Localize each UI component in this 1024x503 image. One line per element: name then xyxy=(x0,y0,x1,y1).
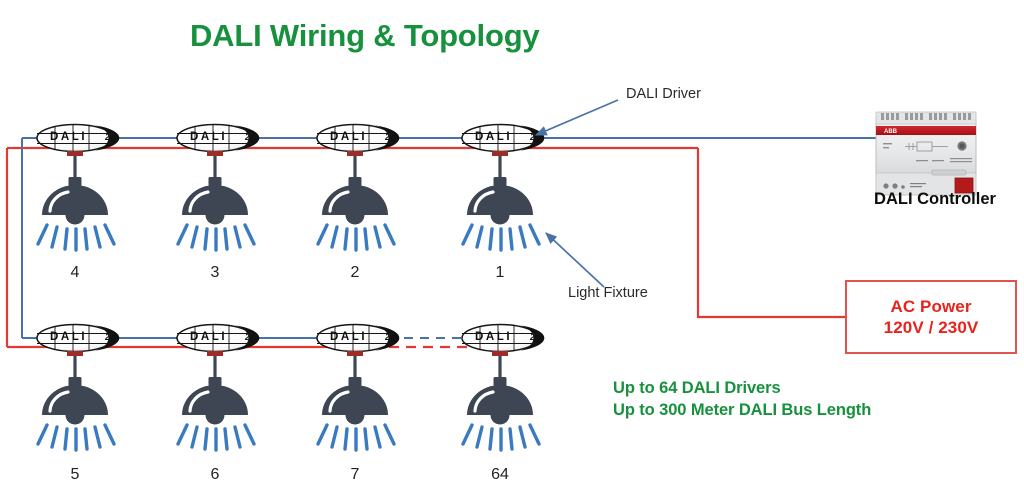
light-fixture-1[interactable] xyxy=(463,141,539,250)
fixture-number-7: 7 xyxy=(335,466,375,484)
dali-driver-6-version: 2 xyxy=(245,332,250,342)
dali-driver-2-version: 2 xyxy=(385,132,390,142)
fixture-number-5: 5 xyxy=(55,466,95,484)
dali-bus-wiring xyxy=(22,138,880,338)
dali-driver-4-version: 2 xyxy=(105,132,110,142)
light-fixture-7[interactable] xyxy=(318,341,394,450)
fixture-group-bottom xyxy=(38,341,539,450)
dali-driver-5-version: 2 xyxy=(105,332,110,342)
light-fixture-4[interactable] xyxy=(38,141,114,250)
ac-wiring xyxy=(7,148,930,347)
light-fixture-6[interactable] xyxy=(178,341,254,450)
dali-driver-annotation-label: DALI Driver xyxy=(626,86,701,102)
dali-controller-caption: DALI Controller xyxy=(855,190,1015,209)
light-fixture-64[interactable] xyxy=(463,341,539,450)
ac-power-voltage: 120V / 230V xyxy=(884,318,979,338)
fixture-number-1: 1 xyxy=(480,264,520,282)
light-fixture-5[interactable] xyxy=(38,341,114,450)
dali-driver-1-version: 2 xyxy=(530,132,535,142)
fixture-number-2: 2 xyxy=(335,264,375,282)
capacity-notes: Up to 64 DALI Drivers Up to 300 Meter DA… xyxy=(613,379,871,420)
page-title: DALI Wiring & Topology xyxy=(190,18,539,54)
fixture-number-4: 4 xyxy=(55,264,95,282)
ac-power-title: AC Power xyxy=(890,297,971,317)
fixture-number-64: 64 xyxy=(480,466,520,484)
ac-power-box: AC Power 120V / 230V xyxy=(845,280,1017,354)
light-fixture-3[interactable] xyxy=(178,141,254,250)
dali-driver-7-version: 2 xyxy=(385,332,390,342)
controller-din-clip xyxy=(932,170,966,175)
light-fixture-2[interactable] xyxy=(318,141,394,250)
diagram-canvas: ABB xyxy=(0,0,1024,503)
note-bus-length: Up to 300 Meter DALI Bus Length xyxy=(613,401,871,420)
driver-group-top xyxy=(37,125,544,157)
fixture-group-top xyxy=(38,141,539,250)
dali-driver-3-version: 2 xyxy=(245,132,250,142)
abb-logo: ABB xyxy=(884,129,898,135)
light-fixture-leader-line xyxy=(546,233,604,287)
fixture-number-3: 3 xyxy=(195,264,235,282)
light-fixture-annotation-label: Light Fixture xyxy=(568,285,648,301)
dali-controller-module[interactable]: ABB xyxy=(876,112,976,195)
fixture-number-6: 6 xyxy=(195,466,235,484)
note-driver-count: Up to 64 DALI Drivers xyxy=(613,379,871,398)
wiring-diagram-svg: ABB xyxy=(0,0,1024,503)
dali-driver-64-version: 2 xyxy=(530,332,535,342)
driver-group-bottom xyxy=(37,325,544,357)
dali-driver-leader-line xyxy=(536,100,618,135)
